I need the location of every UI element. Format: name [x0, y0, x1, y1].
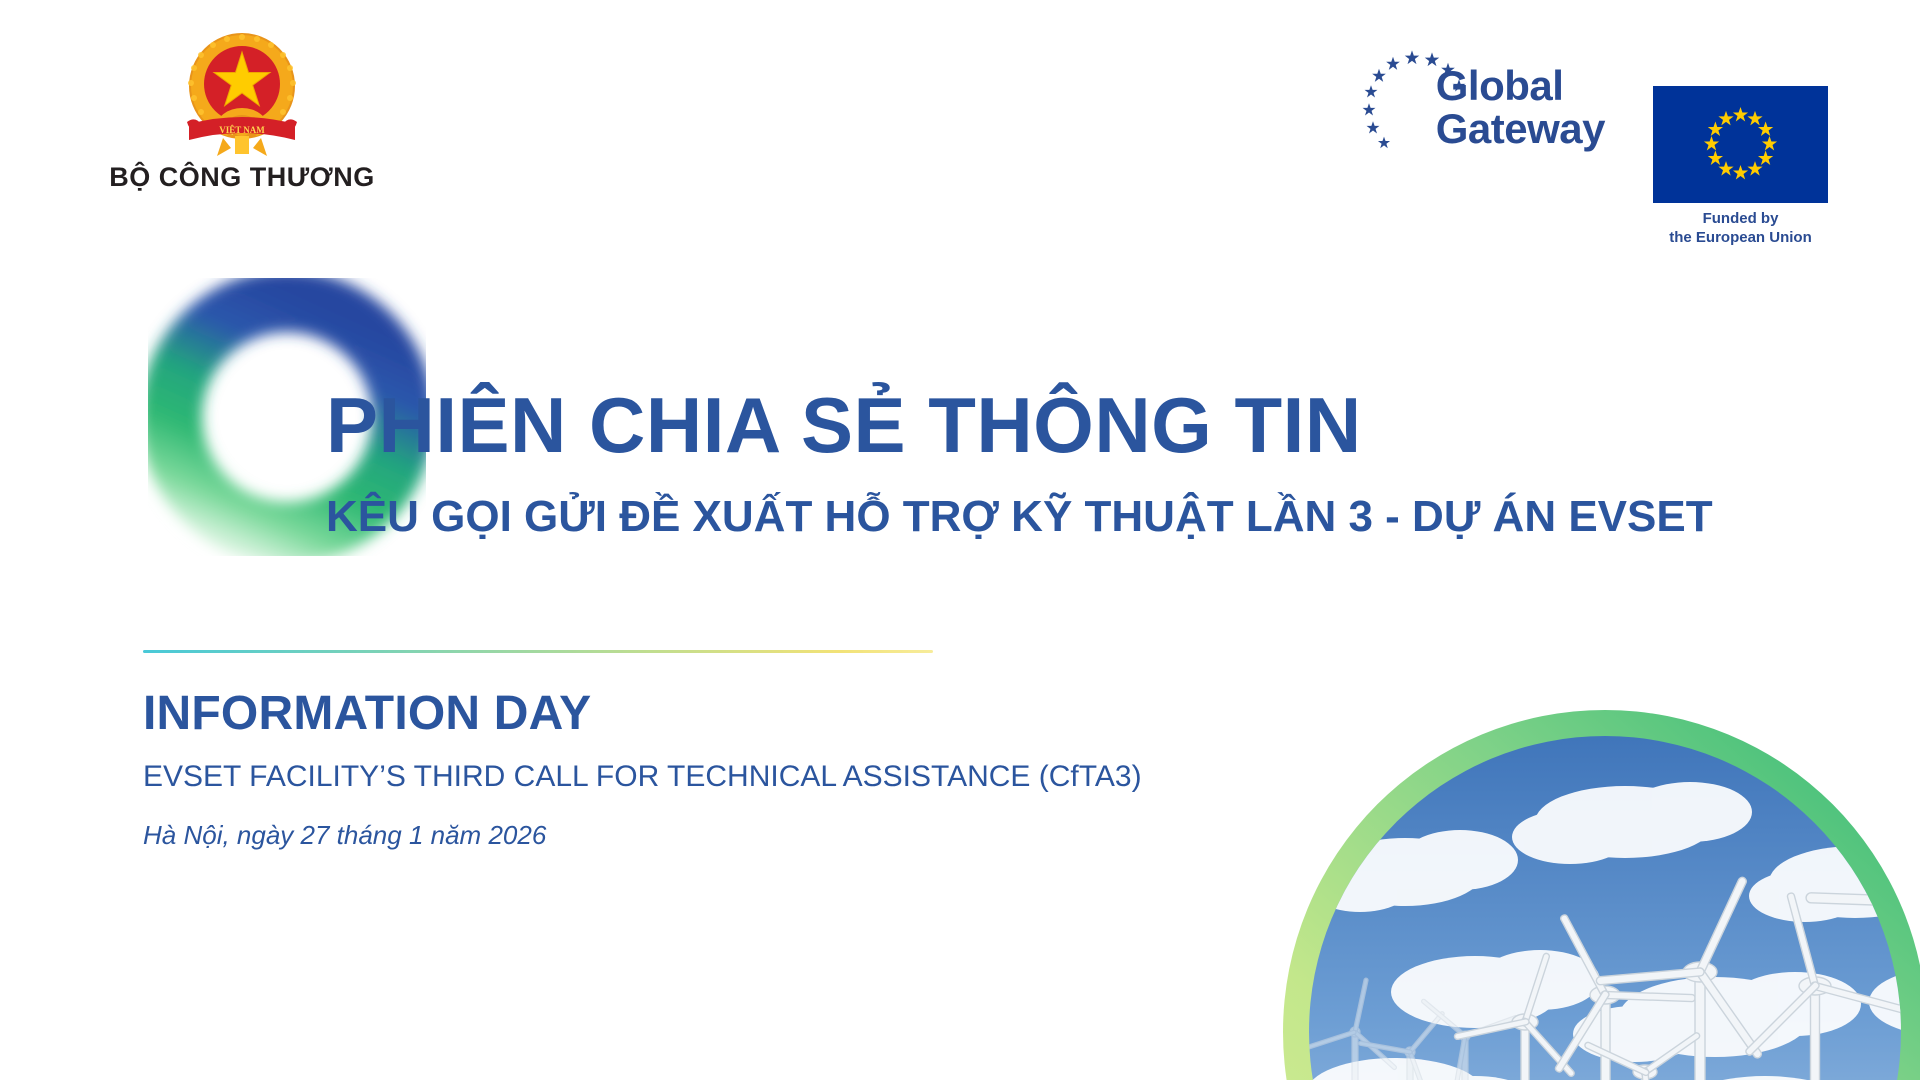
gateway-line-1: Global [1436, 65, 1605, 108]
emblem-banner-text: VIỆT NAM [219, 125, 265, 135]
presentation-slide: VIỆT NAM BỘ CÔNG THƯƠNG [0, 0, 1920, 1080]
vietnam-national-emblem-icon: VIỆT NAM [167, 28, 317, 158]
global-gateway-wordmark: Global Gateway [1436, 65, 1605, 151]
eu-funding-caption: Funded by the European Union [1653, 210, 1828, 248]
information-day-heading: INFORMATION DAY [143, 690, 591, 738]
eu-funding-block: Funded by the European Union [1653, 48, 1828, 248]
european-union-flag [1653, 86, 1828, 203]
ministry-logo-block: VIỆT NAM BỘ CÔNG THƯƠNG [92, 28, 392, 208]
eu-caption-line-2: the European Union [1653, 229, 1828, 248]
ministry-name-label: BỘ CÔNG THƯƠNG [92, 162, 392, 193]
slide-title-vietnamese: PHIÊN CHIA SẺ THÔNG TIN [326, 386, 1362, 464]
global-gateway-logo: Global Gateway [1360, 48, 1605, 168]
renewable-energy-photo [1155, 672, 1920, 1080]
vietnam-national-emblem: VIỆT NAM [167, 28, 317, 158]
information-day-subheading: EVSET FACILITY’S THIRD CALL FOR TECHNICA… [143, 762, 1142, 792]
funder-logos-block: Global Gateway [1360, 48, 1828, 248]
gateway-line-2: Gateway [1436, 108, 1605, 151]
gradient-divider [143, 650, 933, 653]
eu-caption-line-1: Funded by [1653, 210, 1828, 229]
renewable-energy-photo-graphic [1155, 672, 1920, 1080]
slide-subtitle-vietnamese: KÊU GỌI GỬI ĐỀ XUẤT HỖ TRỢ KỸ THUẬT LẦN … [326, 495, 1713, 539]
event-date-label: Hà Nội, ngày 27 tháng 1 năm 2026 [143, 822, 546, 848]
